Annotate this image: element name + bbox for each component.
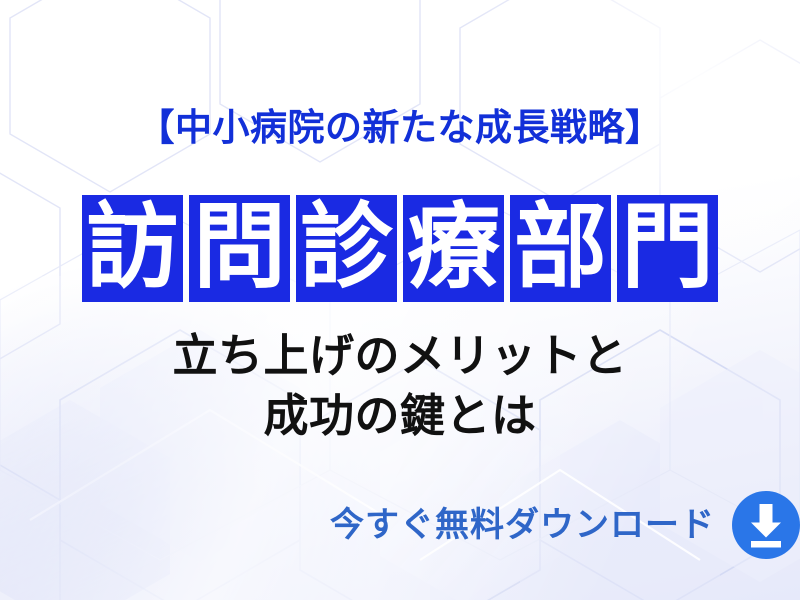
- title-char-box: 療: [403, 195, 504, 302]
- main-title: 訪 問 診 療 部 門: [0, 195, 800, 302]
- download-cta-label: 今すぐ無料ダウンロード: [330, 508, 715, 542]
- subtitle-line-2: 成功の鍵とは: [0, 386, 800, 446]
- subtitle: 立ち上げのメリットと 成功の鍵とは: [0, 326, 800, 446]
- eyebrow-headline: 【中小病院の新たな成長戦略】: [0, 108, 800, 149]
- poster-content: 【中小病院の新たな成長戦略】 訪 問 診 療 部 門 立ち上げのメリットと 成功…: [0, 0, 800, 600]
- title-char-box: 診: [296, 195, 397, 302]
- subtitle-line-1: 立ち上げのメリットと: [0, 326, 800, 386]
- title-char-box: 門: [617, 195, 718, 302]
- download-circle-icon[interactable]: [731, 490, 800, 560]
- title-char-box: 部: [510, 195, 611, 302]
- download-cta[interactable]: 今すぐ無料ダウンロード: [330, 488, 750, 562]
- title-char-box: 訪: [82, 195, 183, 302]
- title-char-box: 問: [189, 195, 290, 302]
- poster-canvas: 【中小病院の新たな成長戦略】 訪 問 診 療 部 門 立ち上げのメリットと 成功…: [0, 0, 800, 600]
